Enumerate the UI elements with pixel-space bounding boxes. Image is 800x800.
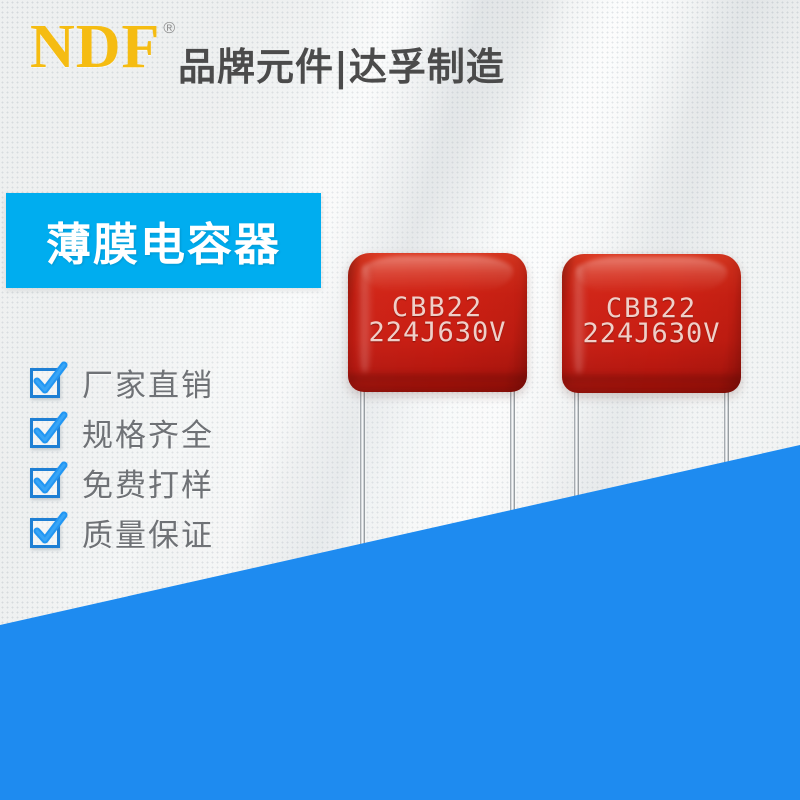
brand-logo: NDF ® bbox=[30, 16, 175, 78]
product-title-banner: 薄膜电容器 bbox=[6, 193, 321, 288]
product-image-capacitor-left: CBB22 224J630V bbox=[348, 253, 527, 577]
page-header: NDF ® 品牌元件|达孚制造 bbox=[0, 0, 800, 108]
registered-trademark-icon: ® bbox=[163, 20, 175, 38]
capacitor-body: CBB22 224J630V bbox=[562, 254, 741, 393]
product-title-text: 薄膜电容器 bbox=[46, 208, 281, 273]
feature-label: 质量保证 bbox=[82, 510, 214, 555]
capacitor-lead-left bbox=[360, 380, 365, 565]
product-image-capacitor-right: CBB22 224J630V bbox=[562, 254, 741, 578]
checkbox-checked-icon bbox=[28, 364, 64, 400]
list-item: 免费打样 bbox=[28, 458, 214, 506]
feature-label: 厂家直销 bbox=[82, 360, 214, 405]
list-item: 厂家直销 bbox=[28, 358, 214, 406]
header-slogan: 品牌元件|达孚制造 bbox=[178, 36, 505, 91]
feature-label: 免费打样 bbox=[82, 460, 214, 505]
checkbox-checked-icon bbox=[28, 414, 64, 450]
feature-label: 规格齐全 bbox=[82, 410, 214, 455]
capacitor-lead-right bbox=[510, 380, 515, 565]
checkbox-checked-icon bbox=[28, 514, 64, 550]
feature-list: 厂家直销 规格齐全 免费打样 bbox=[28, 358, 214, 558]
capacitor-lead-right bbox=[724, 381, 729, 566]
product-banner-canvas: NDF ® 品牌元件|达孚制造 薄膜电容器 厂家直销 bbox=[0, 0, 800, 800]
list-item: 质量保证 bbox=[28, 508, 214, 556]
capacitor-spec-marking: 224J630V bbox=[562, 318, 741, 349]
logo-wordmark: NDF bbox=[30, 16, 160, 78]
capacitor-gloss-highlight bbox=[362, 256, 512, 292]
capacitor-seam-shadow bbox=[348, 370, 527, 384]
checkbox-checked-icon bbox=[28, 464, 64, 500]
capacitor-spec-marking: 224J630V bbox=[348, 317, 527, 348]
capacitor-body: CBB22 224J630V bbox=[348, 253, 527, 392]
capacitor-seam-shadow bbox=[562, 371, 741, 385]
capacitor-gloss-highlight bbox=[576, 257, 726, 293]
list-item: 规格齐全 bbox=[28, 408, 214, 456]
capacitor-lead-left bbox=[574, 381, 579, 566]
